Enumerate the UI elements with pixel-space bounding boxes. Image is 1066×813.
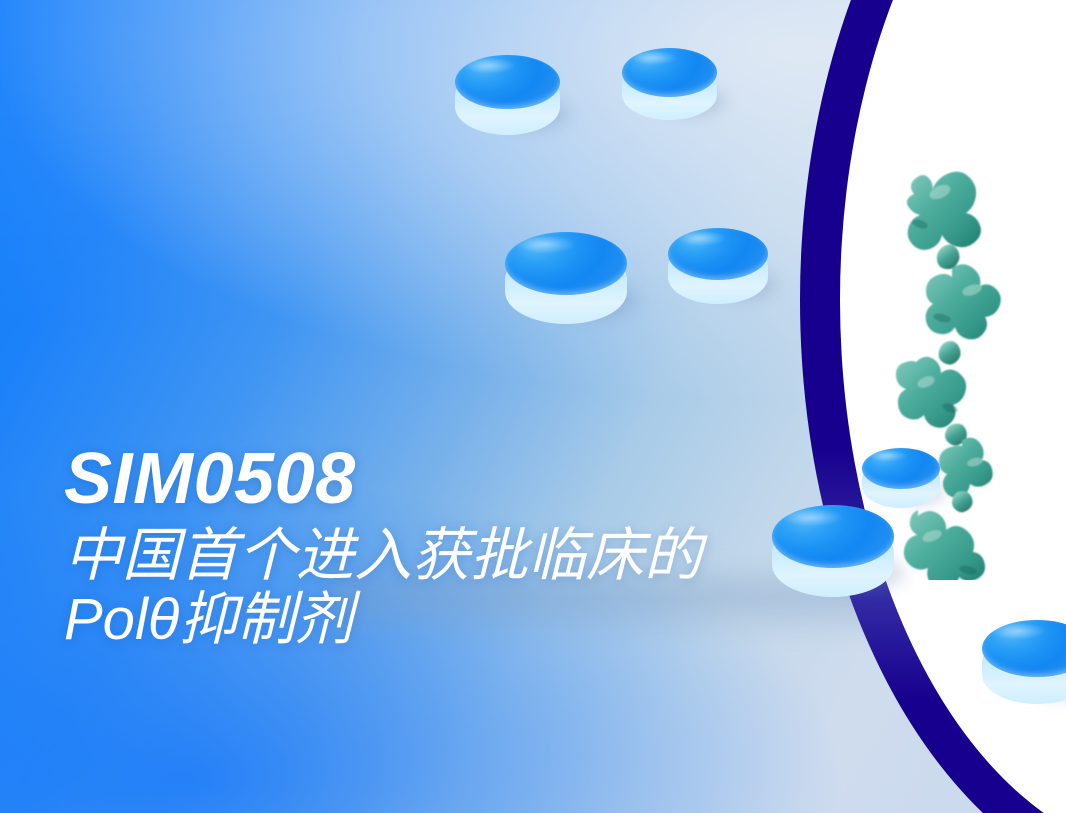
tablet-gloss	[678, 231, 736, 249]
tablet-1	[455, 55, 560, 135]
tablet-gloss	[466, 58, 527, 76]
tablet-face	[505, 232, 627, 295]
tablet-face	[622, 48, 717, 97]
tablet-2	[622, 48, 717, 120]
tablet-7	[982, 620, 1066, 704]
tablet-face	[668, 228, 768, 280]
protein-structure-icon	[880, 150, 1066, 580]
poster-canvas: SIM0508 中国首个进入获批临床的 Polθ抑制剂	[0, 0, 1066, 813]
headline-block: SIM0508 中国首个进入获批临床的 Polθ抑制剂	[64, 440, 884, 652]
tablet-face	[455, 55, 560, 109]
poster-subtitle: 中国首个进入获批临床的 Polθ抑制剂	[64, 524, 884, 652]
tablet-gloss	[632, 51, 687, 68]
tablet-gloss	[517, 236, 588, 257]
tablet-4	[668, 228, 768, 304]
protein-ribbon-container	[880, 150, 1066, 580]
tablet-3	[505, 232, 627, 324]
tablet-gloss	[993, 623, 1057, 642]
poster-title: SIM0508	[64, 440, 884, 518]
